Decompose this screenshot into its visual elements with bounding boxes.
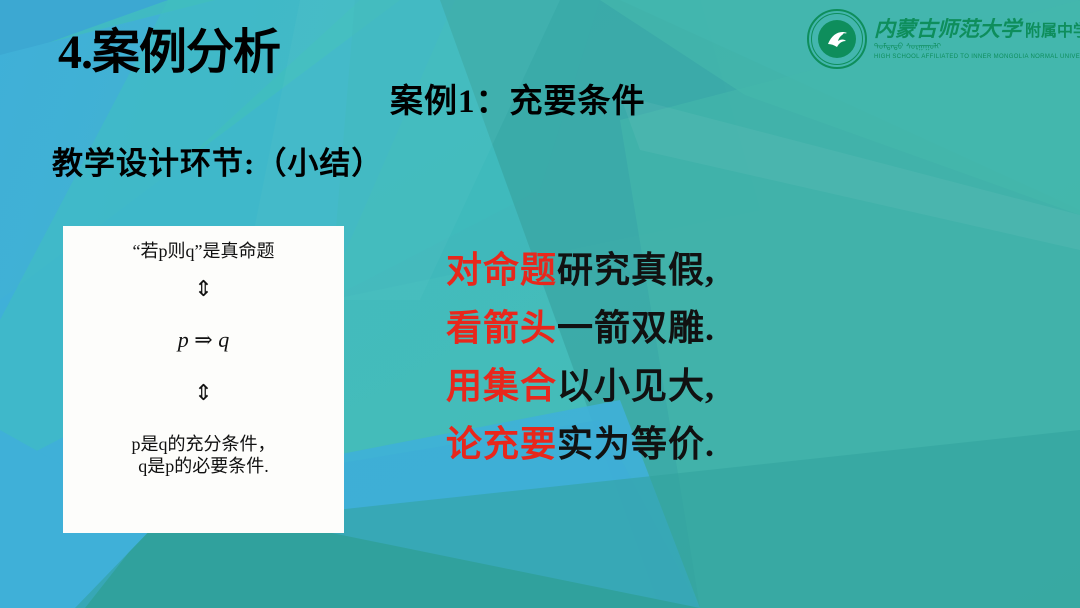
school-name-cn: 内蒙古师范大学 附属中学 xyxy=(874,19,1080,40)
verse-line-1-black: 研究真假, xyxy=(557,250,715,290)
verse-line-4-black: 实为等价. xyxy=(557,424,715,464)
verse-line-3-black: 以小见大, xyxy=(557,366,715,406)
verse-line-2-red: 看箭头 xyxy=(446,308,557,348)
verse-line-4: 论充要实为等价. xyxy=(446,426,776,462)
school-logo-text: 内蒙古师范大学 附属中学 ᠳᠤᠮᠳᠠᠳᠤ ᠰᠤᠷᠭᠠᠭᠤᠯᠢ HIGH SCHO… xyxy=(874,19,1080,60)
slide-subtitle: 案例1：充要条件 xyxy=(390,74,646,122)
school-name-en: HIGH SCHOOL AFFILIATED TO INNER MONGOLIA… xyxy=(874,54,1080,60)
verse-line-2-black: 一箭双雕. xyxy=(557,308,715,348)
verse-line-1: 对命题研究真假, xyxy=(446,252,776,288)
summary-card: “若p则q”是真命题 ⇕ p ⇒ q ⇕ p是q的充分条件， q是p的必要条件. xyxy=(63,226,344,533)
school-crest-icon xyxy=(806,8,868,70)
slide-title: 4.案例分析 xyxy=(58,12,280,82)
double-arrow-icon-top: ⇕ xyxy=(194,279,212,301)
verse-line-3-red: 用集合 xyxy=(446,366,557,406)
school-name-mongolian: ᠳᠤᠮᠳᠠᠳᠤ ᠰᠤᠷᠭᠠᠭᠤᠯᠢ xyxy=(874,43,1080,51)
verse-line-4-red: 论充要 xyxy=(446,424,557,464)
card-necessary-line: q是p的必要条件. xyxy=(138,455,269,478)
verse-line-1-red: 对命题 xyxy=(446,250,557,290)
section-label: 教学设计环节:（小结） xyxy=(52,138,383,183)
verse-line-3: 用集合以小见大, xyxy=(446,368,776,404)
mnemonic-verse: 对命题研究真假, 看箭头一箭双雕. 用集合以小见大, 论充要实为等价. xyxy=(446,252,776,484)
slide-canvas: 内蒙古师范大学 附属中学 ᠳᠤᠮᠳᠠᠳᠤ ᠰᠤᠷᠭᠠᠭᠤᠯᠢ HIGH SCHO… xyxy=(0,0,1080,608)
card-sufficient-line: p是q的充分条件， xyxy=(132,433,276,456)
school-logo: 内蒙古师范大学 附属中学 ᠳᠤᠮᠳᠠᠳᠤ ᠰᠤᠷᠭᠠᠭᠤᠯᠢ HIGH SCHO… xyxy=(806,6,1074,72)
school-name-cn-main: 内蒙古师范大学 xyxy=(874,19,1021,40)
verse-line-2: 看箭头一箭双雕. xyxy=(446,310,776,346)
card-formula: p ⇒ q xyxy=(178,327,229,353)
card-proposition-line: “若p则q”是真命题 xyxy=(133,240,275,263)
double-arrow-icon-bottom: ⇕ xyxy=(194,383,212,405)
school-name-cn-sub: 附属中学 xyxy=(1025,24,1080,40)
